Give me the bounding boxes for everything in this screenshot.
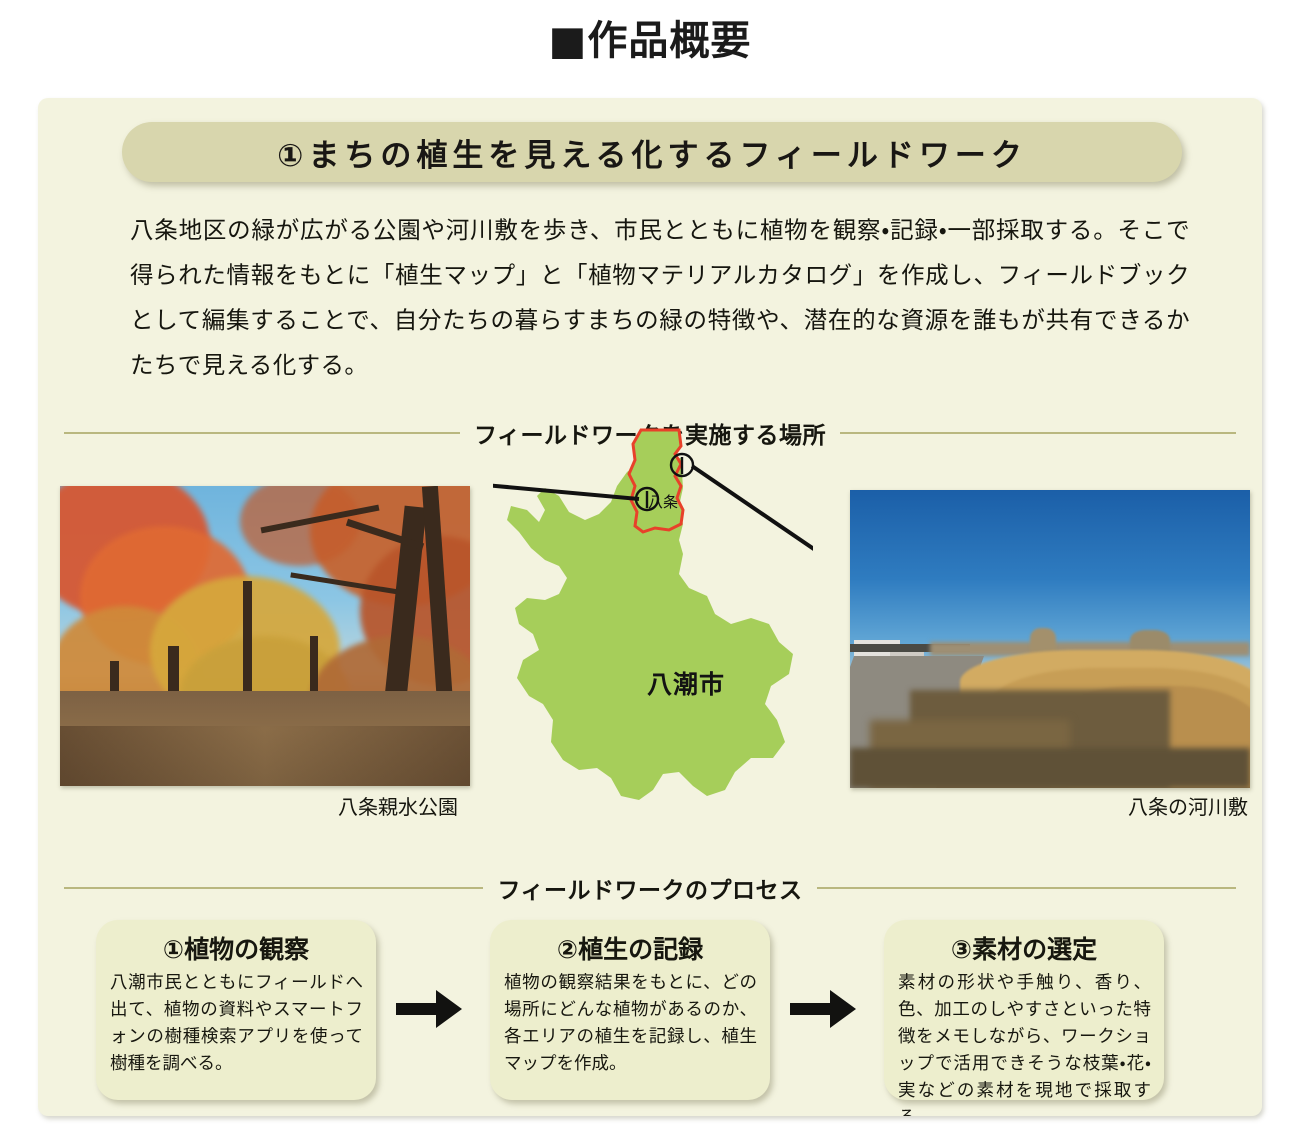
map-label-city: 八潮市 bbox=[647, 665, 725, 701]
map-label-district: 八条 bbox=[648, 491, 678, 512]
content-panel: ①まちの植生を見える化するフィールドワーク 八条地区の緑が広がる公園や河川敷を歩… bbox=[38, 98, 1262, 1116]
divider-rule-right bbox=[840, 432, 1236, 434]
arrow-right-icon bbox=[788, 986, 858, 1032]
process-step-1-title: ①植物の観察 bbox=[96, 930, 376, 966]
divider-rule-left bbox=[64, 887, 483, 889]
district-highlight-shape bbox=[629, 430, 683, 532]
arrow-right-icon bbox=[394, 986, 464, 1032]
photo-autumn-park bbox=[60, 486, 470, 786]
banner-heading: ①まちの植生を見える化するフィールドワーク bbox=[122, 122, 1182, 182]
section-banner: ①まちの植生を見える化するフィールドワーク bbox=[122, 122, 1182, 182]
photo-riverbank bbox=[850, 490, 1250, 788]
caption-autumn-park: 八条親水公園 bbox=[338, 791, 458, 820]
page-title: ■作品概要 bbox=[0, 8, 1300, 66]
divider-rule-left bbox=[64, 432, 460, 434]
divider-rule-right bbox=[817, 887, 1236, 889]
process-step-1-body: 八潮市民とともにフィールドへ出て、植物の資料やスマートフォンの樹種検索アプリを使… bbox=[110, 970, 363, 1078]
caption-riverbank: 八条の河川敷 bbox=[1128, 791, 1248, 820]
process-step-3[interactable]: ③素材の選定 素材の形状や手触り、香り、色、加工のしやすさといった特徴をメモしな… bbox=[884, 920, 1164, 1100]
process-step-3-body: 素材の形状や手触り、香り、色、加工のしやすさといった特徴をメモしながら、ワークシ… bbox=[898, 970, 1151, 1116]
divider-label-process: フィールドワークのプロセス bbox=[497, 871, 802, 905]
process-step-1[interactable]: ①植物の観察 八潮市民とともにフィールドへ出て、植物の資料やスマートフォンの樹種… bbox=[96, 920, 376, 1100]
process-step-3-title: ③素材の選定 bbox=[884, 930, 1164, 966]
overview-paragraph: 八条地区の緑が広がる公園や河川敷を歩き、市民とともに植物を観察・記録・一部採取す… bbox=[130, 208, 1190, 388]
process-step-2-body: 植物の観察結果をもとに、どの場所にどんな植物があるのか、各エリアの植生を記録し、… bbox=[504, 970, 757, 1078]
divider-process: フィールドワークのプロセス bbox=[64, 873, 1236, 903]
leader-line-right bbox=[692, 466, 813, 603]
process-step-2-title: ②植生の記録 bbox=[490, 930, 770, 966]
process-step-2[interactable]: ②植生の記録 植物の観察結果をもとに、どの場所にどんな植物があるのか、各エリアの… bbox=[490, 920, 770, 1100]
